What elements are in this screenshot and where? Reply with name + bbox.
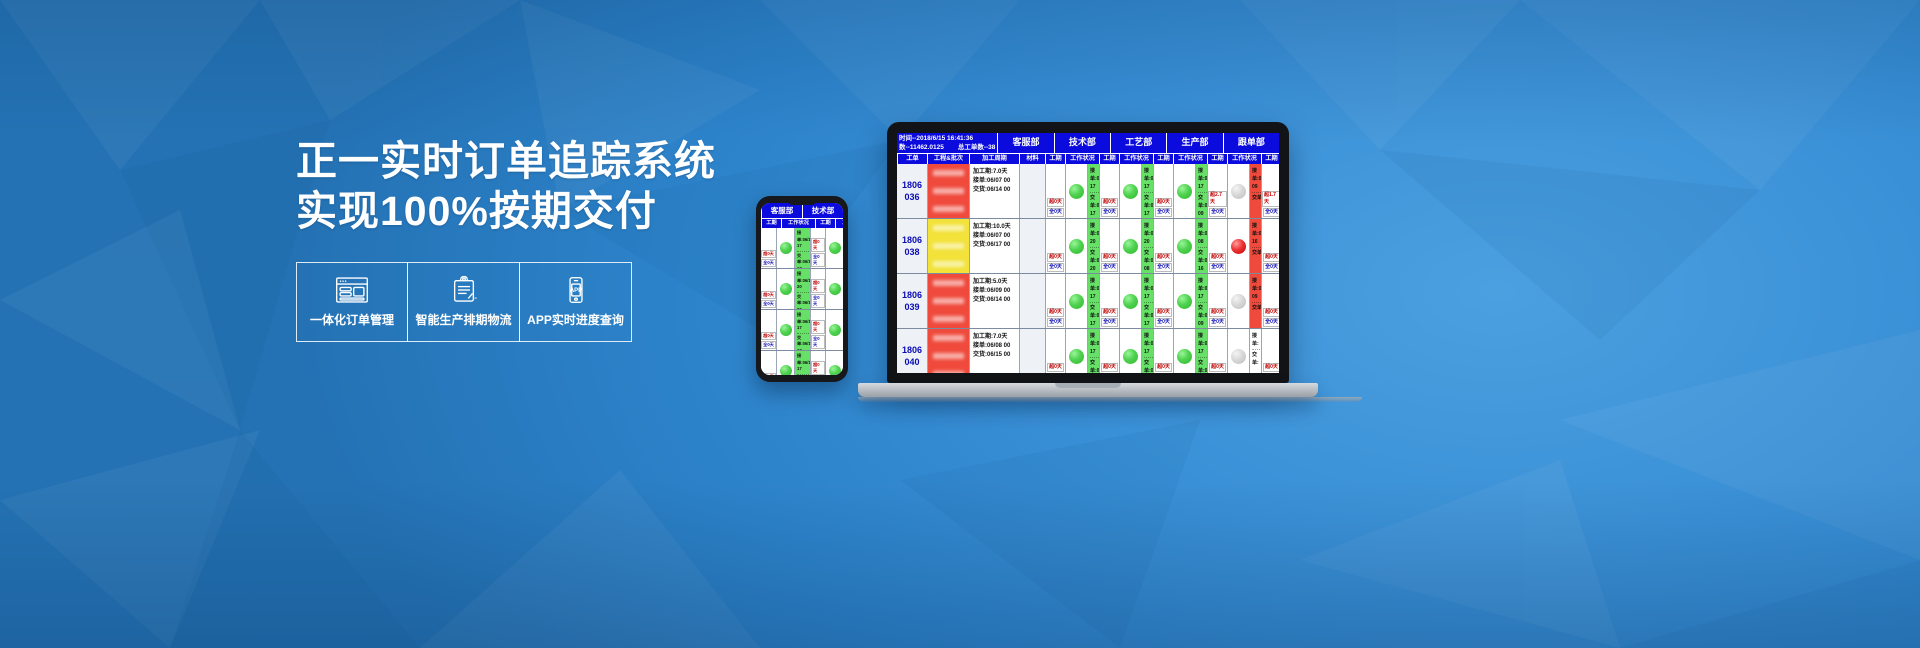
- project-text-redacted: [928, 200, 969, 218]
- duration-cell[interactable]: 超0天全0天: [810, 228, 825, 268]
- overdue-badge: 超0天: [761, 250, 776, 258]
- department-1[interactable]: 客服部: [761, 203, 802, 218]
- total-days-badge: 全0天: [1155, 208, 1172, 217]
- total-days-badge: 全0天: [1101, 263, 1118, 272]
- status-dates: 接单:06/11 17交单:06/12 09: [1196, 164, 1207, 218]
- status-cell[interactable]: 接单:06/11 17交单:06/11 17: [776, 310, 810, 350]
- status-date-line: 接单:06/11 17: [1198, 332, 1207, 358]
- feature-card-order-management[interactable]: 一体化订单管理: [296, 262, 408, 342]
- overdue-badge: 超0天: [1263, 363, 1279, 372]
- cycle-line: 接单:06/07 00: [973, 177, 1017, 186]
- status-date-line: 接单:06/15 16: [1252, 222, 1261, 248]
- redaction-bar: [933, 335, 965, 341]
- status-indicator-gray: [1231, 184, 1246, 199]
- project-cell[interactable]: [927, 164, 969, 218]
- workorder-prefix: 1806: [902, 234, 922, 246]
- status-indicator-gray: [1231, 349, 1246, 364]
- project-text-redacted: [928, 237, 969, 255]
- duration-cell[interactable]: 超0天全4天: [1099, 329, 1119, 373]
- total-days-badge: 全0天: [761, 300, 776, 308]
- redaction-bar: [933, 188, 965, 194]
- mobile-table-row[interactable]: 超0天全0天接单:06/12 20交单:06/12 20超0天全0天接单:06/…: [761, 269, 843, 310]
- status-dot-wrap: [1174, 274, 1196, 328]
- column-header-duration-3[interactable]: 工期: [1153, 153, 1173, 164]
- project-text-redacted: [928, 274, 969, 292]
- status-indicator-green: [780, 283, 792, 295]
- column-header-duration-1[interactable]: 工期: [1045, 153, 1065, 164]
- status-cell[interactable]: 接单:06/12 20交单:06/14 08确认:06/14 08: [825, 269, 843, 309]
- status-cell[interactable]: 接单:06/15 16交单:: [1227, 219, 1261, 273]
- cycle-line: 加工期:7.0天: [973, 333, 1017, 342]
- overdue-badge: 超0天: [1047, 253, 1064, 262]
- status-dot-wrap: [1174, 219, 1196, 273]
- status-cell[interactable]: 接单:06/12 09交单:: [1227, 164, 1261, 218]
- duration-cell[interactable]: 超0天全0天: [1207, 329, 1227, 373]
- column-header: 工单工程&批次加工周期材料工期工作状况工期工作状况工期工作状况工期工作状况工期工…: [897, 153, 1279, 164]
- workorder-cell[interactable]: 1806039: [897, 274, 927, 328]
- laptop-trackpad-notch: [1055, 383, 1121, 388]
- department-2[interactable]: 技术部: [802, 203, 843, 218]
- overdue-badge: 超0天: [1101, 363, 1118, 372]
- redaction-bar: [933, 298, 965, 304]
- status-cell[interactable]: 接单:06/11 17交单:06/11 17: [776, 351, 810, 375]
- mobile-column-header-duration-2[interactable]: 工期: [815, 218, 835, 228]
- redaction-bar: [933, 280, 965, 286]
- status-dates: 接单:06/15 16交单:: [1250, 219, 1261, 273]
- workorder-suffix: 039: [904, 301, 919, 313]
- total-days-badge: 全0天: [1263, 263, 1279, 272]
- clipboard-icon: [447, 276, 481, 304]
- dashboard-time: 时间--2018/6/15 16:41:36: [899, 134, 995, 143]
- overdue-badge: 超0天: [1209, 308, 1226, 317]
- status-cell[interactable]: 接单:06/11 17交单:06/12 09: [1173, 329, 1207, 373]
- status-dot-wrap: [1066, 329, 1088, 373]
- laptop-lid: 时间--2018/6/15 16:41:36 数--11462.0125总工单数…: [887, 122, 1289, 383]
- mobile-table-row[interactable]: 超0天全0天接单:06/11 17交单:06/11 17超0天全0天接单:06/…: [761, 310, 843, 351]
- status-date-line: 接单:06/11 17: [1144, 277, 1153, 303]
- project-text-redacted: [928, 329, 969, 347]
- table-row[interactable]: 1806040加工期:7.0天接单:06/08 00交货:06/15 00超0天…: [897, 329, 1279, 373]
- status-indicator-green: [1177, 239, 1192, 254]
- overdue-badge: 超0天: [1209, 363, 1226, 372]
- status-dot-wrap: [1120, 219, 1142, 273]
- status-dot-wrap: [1228, 329, 1250, 373]
- status-indicator-green: [780, 324, 792, 336]
- status-indicator-green: [829, 324, 841, 336]
- project-text-redacted: [928, 255, 969, 273]
- status-cell[interactable]: 接单:06/11 17交单:06/11 17确认:06/11 17: [1119, 164, 1153, 218]
- status-cell[interactable]: 接单:06/12 20交单:06/12 20: [776, 269, 810, 309]
- status-cell[interactable]: 接单:06/11 17交单:06/11 17: [1065, 274, 1099, 328]
- status-dates: 接单:06/11 17交单:06/11 17: [795, 310, 810, 350]
- table-row[interactable]: 1806038加工期:10.0天接单:06/07 00交货:06/17 00超0…: [897, 219, 1279, 274]
- duration-cell[interactable]: 超0天全0天: [810, 351, 825, 375]
- mobile-column-header-duration-1[interactable]: 工期: [761, 218, 781, 228]
- redaction-bar: [933, 225, 965, 231]
- total-days-badge: 全0天: [1209, 318, 1226, 327]
- status-date-line: 交单:: [1252, 304, 1261, 313]
- status-indicator-green: [829, 365, 841, 375]
- overdue-badge: 超0天: [761, 373, 776, 375]
- status-indicator-green: [1123, 294, 1138, 309]
- status-date-line: 交单:06/11 17: [797, 253, 810, 269]
- project-cell[interactable]: [927, 329, 969, 373]
- project-text-redacted: [928, 365, 969, 373]
- duration-cell[interactable]: 超0天全0天: [761, 269, 776, 309]
- feature-label: 一体化订单管理: [310, 311, 394, 328]
- phone-body: 客服部技术部 工期工作状况工期工作状况 超0天全0天接单:06/11 17交单:…: [756, 196, 848, 382]
- status-date-line: 交单:06/11 17: [1090, 359, 1099, 373]
- redaction-bar: [933, 170, 965, 176]
- status-dot-wrap: [777, 228, 795, 268]
- material-cell[interactable]: [1019, 329, 1045, 373]
- column-header-status-2[interactable]: 工作状况: [1119, 153, 1153, 164]
- cycle-line: 加工期:5.0天: [973, 278, 1017, 287]
- duration-cell[interactable]: 超0天全0天: [1099, 274, 1119, 328]
- status-date-line: 交单:06/11 17: [1090, 194, 1099, 218]
- overdue-badge: 超0天: [1047, 308, 1064, 317]
- department-4[interactable]: 生产部: [1166, 133, 1222, 153]
- status-date-line: 交单:06/11 17: [1144, 194, 1153, 218]
- overdue-badge: 超0天: [1155, 253, 1172, 262]
- duration-cell[interactable]: 超0天全0天: [761, 310, 776, 350]
- total-days-badge: 全0天: [1047, 208, 1064, 217]
- mobile-table-row[interactable]: 超0天全0天接单:06/11 17交单:06/11 17超0天全0天接单:06/…: [761, 228, 843, 269]
- hero-copy: 正一实时订单追踪系统 实现100%按期交付: [296, 136, 766, 236]
- overdue-badge: 超0天: [811, 361, 825, 375]
- duration-cell[interactable]: 超0天全0天: [1207, 274, 1227, 328]
- mobile-column-header-status-2[interactable]: 工作状况: [835, 218, 843, 228]
- status-dates: 接单:06/11 17交单:06/11 17确认:06/11 17: [1142, 164, 1153, 218]
- laptop-screen[interactable]: 时间--2018/6/15 16:41:36 数--11462.0125总工单数…: [897, 133, 1279, 373]
- overdue-badge: 超0天: [1209, 253, 1226, 262]
- status-indicator-green: [780, 365, 792, 375]
- duration-cell[interactable]: 超0天全0天: [1045, 274, 1065, 328]
- status-dot-wrap: [1174, 164, 1196, 218]
- status-dates: 接单:06/11 17交单:06/11 17确认:06/11 17: [1142, 329, 1153, 373]
- laptop-base: [858, 383, 1318, 397]
- status-cell[interactable]: 接单:06/11 17交单:06/12 09: [1173, 164, 1207, 218]
- feature-list: 一体化订单管理 智能生产排期物流 APP APP实时进度查询: [296, 262, 632, 342]
- status-cell[interactable]: 接单:06/11 17交单:06/11 17: [776, 228, 810, 268]
- duration-cell[interactable]: 超0天全0天: [761, 351, 776, 375]
- department-5[interactable]: 跟单部: [1223, 133, 1279, 153]
- status-dot-wrap: [1066, 274, 1088, 328]
- overdue-badge: 超0天: [811, 238, 825, 252]
- column-header-material[interactable]: 材料: [1019, 153, 1045, 164]
- status-dates: 接单:06/11 17交单:06/11 17: [1088, 274, 1099, 328]
- duration-cell[interactable]: 超0天全0天: [810, 269, 825, 309]
- project-text-redacted: [928, 164, 969, 182]
- redaction-bar: [933, 353, 965, 359]
- status-dot-wrap: [777, 269, 795, 309]
- cycle-line: 加工期:7.0天: [973, 168, 1017, 177]
- duration-cell[interactable]: 超0天全0天: [1153, 164, 1173, 218]
- status-date-line: 交单:06/12 20: [797, 294, 810, 310]
- overdue-badge: 超2.7天: [1208, 191, 1227, 207]
- status-date-line: 接单:06/11 17: [1090, 332, 1099, 358]
- status-date-line: 接单:06/11 17: [1198, 277, 1207, 303]
- mobile-column-header: 工期工作状况工期工作状况: [761, 218, 843, 228]
- column-header-status-4[interactable]: 工作状况: [1227, 153, 1261, 164]
- status-dates: 接单:06/11 17交单:06/12 09: [1196, 329, 1207, 373]
- column-header-status-3[interactable]: 工作状况: [1173, 153, 1207, 164]
- mobile-column-header-status-1[interactable]: 工作状况: [781, 218, 815, 228]
- status-date-line: 交单:06/12 09: [1198, 194, 1207, 218]
- status-dates: 接单:06/14 08交单:06/15 16: [1196, 219, 1207, 273]
- status-dot-wrap: [826, 269, 843, 309]
- dashboard-counts: 数--11462.0125总工单数--38: [899, 143, 995, 152]
- duration-cell[interactable]: 超0天全0天: [1045, 219, 1065, 273]
- status-dot-wrap: [1120, 329, 1142, 373]
- workorder-prefix: 1806: [902, 344, 922, 356]
- status-cell[interactable]: 接单:交单:: [1227, 329, 1261, 373]
- overdue-badge: 超0天: [1155, 308, 1172, 317]
- status-date-line: 接单:: [1252, 332, 1260, 350]
- project-text-redacted: [928, 347, 969, 365]
- duration-cell[interactable]: 超0天全0天: [761, 228, 776, 268]
- project-text-redacted: [928, 292, 969, 310]
- mobile-department-header: 客服部技术部: [761, 203, 843, 218]
- status-cell[interactable]: 接单:06/14 08交单:06/15 16: [1173, 219, 1207, 273]
- status-date-line: 接单:06/11 17: [1198, 167, 1207, 193]
- duration-cell[interactable]: 超0天全0天: [1261, 329, 1279, 373]
- dashboard-header: 时间--2018/6/15 16:41:36 数--11462.0125总工单数…: [897, 133, 1279, 153]
- status-dot-wrap: [1228, 274, 1250, 328]
- column-header-cycle[interactable]: 加工周期: [969, 153, 1019, 164]
- cycle-line: 接单:06/07 00: [973, 232, 1017, 241]
- mobile-table-row[interactable]: 超0天全0天接单:06/11 17交单:06/11 17超0天全0天接单:06/…: [761, 351, 843, 375]
- mobile-table-body: 超0天全0天接单:06/11 17交单:06/11 17超0天全0天接单:06/…: [761, 228, 843, 375]
- status-indicator-green: [1069, 239, 1084, 254]
- duration-cell[interactable]: 超0天全0天: [1099, 219, 1119, 273]
- status-date-line: 接单:06/11 17: [797, 312, 810, 334]
- workorder-cell[interactable]: 1806036: [897, 164, 927, 218]
- duration-cell[interactable]: 超1.7天全0天: [1261, 164, 1279, 218]
- material-cell[interactable]: [1019, 274, 1045, 328]
- overdue-badge: 超0天: [1155, 198, 1172, 207]
- overdue-badge: 超0天: [811, 320, 825, 334]
- feature-label: APP实时进度查询: [527, 311, 624, 328]
- status-date-line: 交单:06/11 17: [1144, 359, 1153, 373]
- duration-cell[interactable]: 超0天全1天: [1045, 329, 1065, 373]
- redaction-bar: [933, 261, 965, 267]
- window-layout-icon: [335, 276, 369, 304]
- column-header-project[interactable]: 工程&批次: [927, 153, 969, 164]
- project-cell[interactable]: [927, 274, 969, 328]
- status-indicator-green: [1177, 294, 1192, 309]
- column-header-duration-2[interactable]: 工期: [1099, 153, 1119, 164]
- cycle-line: 加工期:10.0天: [973, 223, 1017, 232]
- duration-cell[interactable]: 超0天全0天: [1261, 219, 1279, 273]
- total-days-badge: 全0天: [1101, 208, 1118, 217]
- duration-cell[interactable]: 超0天全3天: [1153, 329, 1173, 373]
- status-indicator-green: [1069, 294, 1084, 309]
- duration-cell[interactable]: 超0天全0天: [1207, 219, 1227, 273]
- status-indicator-green: [1177, 349, 1192, 364]
- status-date-line: 接单:06/11 17: [1090, 277, 1099, 303]
- project-text-redacted: [928, 219, 969, 237]
- overdue-badge: 超0天: [1263, 253, 1279, 262]
- status-cell[interactable]: 接单:06/12 09交单:: [1227, 274, 1261, 328]
- status-dot-wrap: [1066, 219, 1088, 273]
- material-cell[interactable]: [1019, 219, 1045, 273]
- status-indicator-gray: [1231, 294, 1246, 309]
- cycle-line: 交货:06/14 00: [973, 186, 1017, 195]
- column-header-duration-4[interactable]: 工期: [1207, 153, 1227, 164]
- total-days-badge: 全0天: [811, 294, 825, 308]
- cycle-cell[interactable]: 加工期:10.0天接单:06/07 00交货:06/17 00: [969, 219, 1019, 273]
- duration-cell[interactable]: 超0天全0天: [1045, 164, 1065, 218]
- status-date-line: 交单:06/12 09: [1198, 359, 1207, 373]
- status-cell[interactable]: 接单:06/11 17交单:06/11 17确认:06/11 17: [1119, 274, 1153, 328]
- status-date-line: 交单:06/11 17: [1090, 304, 1099, 328]
- dashboard-total-value: 总工单数--38: [958, 144, 996, 151]
- workorder-prefix: 1806: [902, 289, 922, 301]
- overdue-badge: 超0天: [1263, 308, 1279, 317]
- status-indicator-red: [1231, 239, 1246, 254]
- status-date-line: 接单:06/11 17: [1144, 167, 1153, 193]
- overdue-badge: 超0天: [1155, 363, 1172, 372]
- status-cell[interactable]: 接单:06/11 17交单:06/11 17确认:06/11 17: [825, 310, 843, 350]
- redaction-bar: [933, 371, 965, 373]
- overdue-badge: 超0天: [761, 332, 776, 340]
- status-indicator-green: [1069, 349, 1084, 364]
- total-days-badge: 全0天: [811, 335, 825, 349]
- duration-cell[interactable]: 超0天全0天: [1153, 274, 1173, 328]
- column-header-duration-5[interactable]: 工期: [1261, 153, 1279, 164]
- status-indicator-green: [1123, 349, 1138, 364]
- status-dates: 接单:06/12 20交单:06/14 08确认:06/14 08: [1142, 219, 1153, 273]
- cycle-line: 接单:06/09 00: [973, 287, 1017, 296]
- project-text-redacted: [928, 182, 969, 200]
- status-dates: 接单:06/12 09交单:: [1250, 164, 1261, 218]
- status-dot-wrap: [826, 228, 843, 268]
- redaction-bar: [933, 243, 965, 249]
- status-dates: 接单:06/11 17交单:06/11 17: [795, 228, 810, 268]
- status-indicator-green: [1069, 184, 1084, 199]
- feature-label: 智能生产排期物流: [415, 311, 511, 328]
- table-row[interactable]: 1806039加工期:5.0天接单:06/09 00交货:06/14 00超0天…: [897, 274, 1279, 329]
- duration-cell[interactable]: 超0天全0天: [1261, 274, 1279, 328]
- workorder-suffix: 038: [904, 246, 919, 258]
- status-date-line: 交单:06/12 09: [1198, 304, 1207, 328]
- status-cell[interactable]: 接单:06/11 17交单:06/11 17: [1065, 164, 1099, 218]
- workorder-cell[interactable]: 1806038: [897, 219, 927, 273]
- status-dot-wrap: [1174, 329, 1196, 373]
- duration-cell[interactable]: 超2.7天全0天: [1207, 164, 1227, 218]
- status-date-line: 接单:06/12 09: [1252, 277, 1261, 303]
- cycle-line: 交货:06/15 00: [973, 351, 1017, 360]
- status-dot-wrap: [1120, 274, 1142, 328]
- phone-app-icon: APP: [559, 276, 593, 304]
- dashboard-meta: 时间--2018/6/15 16:41:36 数--11462.0125总工单数…: [897, 133, 997, 153]
- status-dot-wrap: [777, 351, 795, 375]
- status-cell[interactable]: 接单:06/12 20交单:06/12 20: [1065, 219, 1099, 273]
- status-cell[interactable]: 接单:06/11 17交单:06/12 09: [1173, 274, 1207, 328]
- project-cell[interactable]: [927, 219, 969, 273]
- status-dates: 接单:06/11 17交单:06/11 17: [795, 351, 810, 375]
- status-dates: 接单:06/11 17交单:06/11 17: [1088, 164, 1099, 218]
- cycle-cell[interactable]: 加工期:7.0天接单:06/07 00交货:06/14 00: [969, 164, 1019, 218]
- status-dates: 接单:06/11 17交单:06/11 17: [1088, 329, 1099, 373]
- material-cell[interactable]: [1019, 164, 1045, 218]
- duration-cell[interactable]: 超0天全0天: [810, 310, 825, 350]
- status-dot-wrap: [826, 310, 843, 350]
- cycle-cell[interactable]: 加工期:5.0天接单:06/09 00交货:06/14 00: [969, 274, 1019, 328]
- status-date-line: 接单:06/11 17: [797, 230, 810, 252]
- workorder-suffix: 040: [904, 356, 919, 368]
- table-row[interactable]: 1806036加工期:7.0天接单:06/07 00交货:06/14 00超0天…: [897, 164, 1279, 219]
- duration-cell[interactable]: 超0天全0天: [1099, 164, 1119, 218]
- total-days-badge: 全0天: [1101, 318, 1118, 327]
- overdue-badge: 超0天: [811, 279, 825, 293]
- department-header: 客服部技术部工艺部生产部跟单部: [997, 133, 1279, 153]
- feature-card-production-scheduling[interactable]: 智能生产排期物流: [407, 262, 520, 342]
- laptop-foot-shadow: [858, 397, 1362, 402]
- status-date-line: 接单:06/11 17: [1144, 332, 1153, 358]
- total-days-badge: 全0天: [1047, 318, 1064, 327]
- status-date-line: 交单:06/11 17: [1144, 304, 1153, 328]
- total-days-badge: 全0天: [761, 341, 776, 349]
- overdue-badge: 超0天: [1101, 198, 1118, 207]
- project-text-redacted: [928, 310, 969, 328]
- column-header-status-1[interactable]: 工作状况: [1065, 153, 1099, 164]
- status-dot-wrap: [777, 310, 795, 350]
- status-date-line: 接单:06/12 09: [1252, 167, 1261, 193]
- overdue-badge: 超0天: [761, 291, 776, 299]
- duration-cell[interactable]: 超0天全0天: [1153, 219, 1173, 273]
- table-body: 1806036加工期:7.0天接单:06/07 00交货:06/14 00超0天…: [897, 164, 1279, 373]
- overdue-badge: 超1.7天: [1262, 191, 1279, 207]
- status-cell[interactable]: 接单:06/11 17交单:06/11 17确认:06/11 17: [1119, 329, 1153, 373]
- redaction-bar: [933, 316, 965, 322]
- status-cell[interactable]: 接单:06/11 17交单:06/12 09: [825, 351, 843, 375]
- status-date-line: 交单:06/14 08: [1144, 249, 1153, 273]
- status-dates: 接单:06/11 17交单:06/11 17确认:06/11 17: [1142, 274, 1153, 328]
- department-2[interactable]: 技术部: [1054, 133, 1110, 153]
- department-3[interactable]: 工艺部: [1110, 133, 1166, 153]
- status-dot-wrap: [1066, 164, 1088, 218]
- workorder-cell[interactable]: 1806040: [897, 329, 927, 373]
- cycle-cell[interactable]: 加工期:7.0天接单:06/08 00交货:06/15 00: [969, 329, 1019, 373]
- total-days-badge: 全0天: [1263, 318, 1279, 327]
- phone-notch: [787, 199, 817, 205]
- dashboard-count-value: 数--11462.0125: [899, 144, 944, 151]
- status-dot-wrap: [1120, 164, 1142, 218]
- workorder-suffix: 036: [904, 191, 919, 203]
- department-1[interactable]: 客服部: [997, 133, 1053, 153]
- total-days-badge: 全0天: [811, 253, 825, 267]
- total-days-badge: 全0天: [1209, 208, 1226, 217]
- status-date-line: 接单:06/14 08: [1198, 222, 1207, 248]
- feature-card-app-tracking[interactable]: APP APP实时进度查询: [519, 262, 632, 342]
- phone-screen[interactable]: 客服部技术部 工期工作状况工期工作状况 超0天全0天接单:06/11 17交单:…: [761, 203, 843, 375]
- status-dates: 接单:06/12 09交单:: [1250, 274, 1261, 328]
- status-date-line: 接单:06/11 17: [1090, 167, 1099, 193]
- status-dot-wrap: [1228, 164, 1250, 218]
- overdue-badge: 超0天: [1047, 198, 1064, 207]
- status-cell[interactable]: 接单:06/12 20交单:06/14 08确认:06/14 08: [1119, 219, 1153, 273]
- status-cell[interactable]: 接单:06/11 17交单:06/11 17: [1065, 329, 1099, 373]
- status-date-line: 接单:06/12 20: [1144, 222, 1153, 248]
- column-header-workorder[interactable]: 工单: [897, 153, 927, 164]
- cycle-line: 接单:06/08 00: [973, 342, 1017, 351]
- status-indicator-green: [1123, 239, 1138, 254]
- total-days-badge: 全0天: [1155, 318, 1172, 327]
- status-dates: 接单:06/11 17交单:06/12 09: [1196, 274, 1207, 328]
- status-cell[interactable]: 接单:06/11 17交单:06/11 17确认:06/11 17: [825, 228, 843, 268]
